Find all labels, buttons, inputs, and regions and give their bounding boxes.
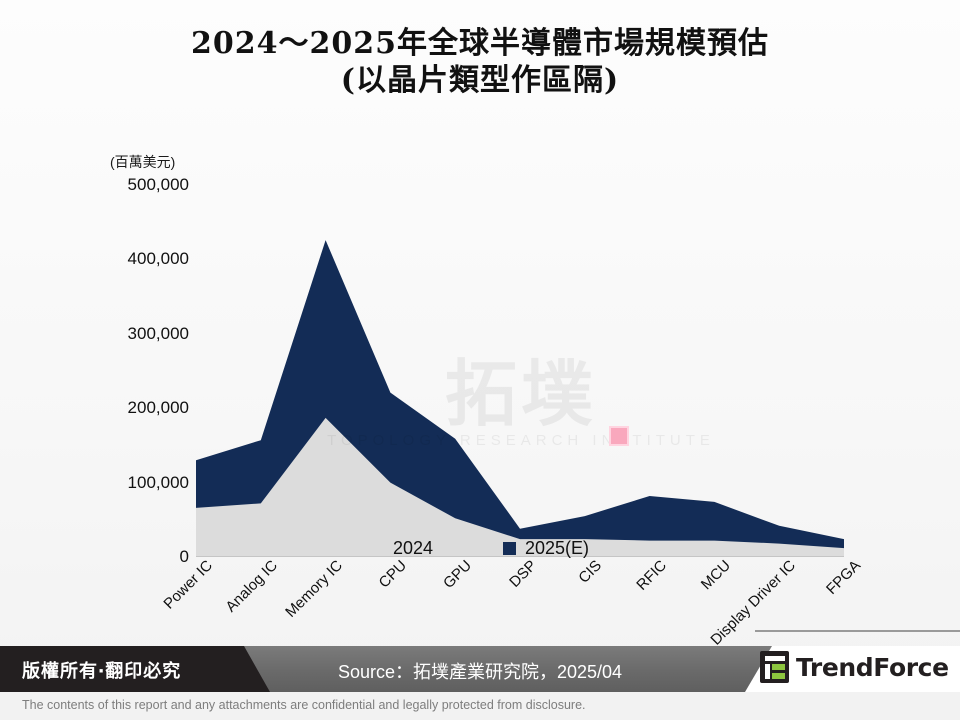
trendforce-mark-icon [760,651,789,683]
y-tick-label: 200,000 [95,398,189,418]
legend-item[interactable]: 2025(E) [503,538,589,559]
y-tick-label: 400,000 [95,249,189,269]
copyright-text: 版權所有‧翻印必究 [22,657,181,683]
x-tick-label-text: GPU [440,557,475,592]
legend-label: 2025(E) [525,538,589,559]
footer-rule [755,630,960,632]
legend-swatch-icon [503,542,516,555]
title-line-2: (以晶片類型作區隔) [0,63,960,100]
slide-canvas: 2024～2025年全球半導體市場規模預估 (以晶片類型作區隔) (百萬美元) … [0,0,960,720]
footer-bar: Source：拓墣產業研究院，2025/04 版權所有‧翻印必究 TrendFo… [0,646,960,692]
chart-legend: 20242025(E) [0,538,960,559]
area-chart-plot [196,185,844,557]
x-tick-label-text: DSP [506,557,540,591]
brand-logo: TrendForce [760,651,949,683]
brand-name: TrendForce [796,653,949,682]
x-tick-label-text: CPU [376,557,410,591]
legend-swatch-icon [371,542,384,555]
slide-footer: Source：拓墣產業研究院，2025/04 版權所有‧翻印必究 TrendFo… [0,628,960,720]
x-tick-label-text: FPGA [823,557,864,598]
x-tick-label-text: CIS [575,557,605,587]
legend-label: 2024 [393,538,433,559]
title-line-1: 2024～2025年全球半導體市場規模預估 [0,26,960,63]
legend-item[interactable]: 2024 [371,538,433,559]
page-title: 2024～2025年全球半導體市場規模預估 (以晶片類型作區隔) [0,26,960,99]
y-axis-tick-labels: 0100,000200,000300,000400,000500,000 [95,120,189,570]
x-tick-label-text: RFIC [633,557,670,594]
y-tick-label: 100,000 [95,473,189,493]
pink-square-marker [609,426,629,446]
x-tick-label-text: MCU [698,557,734,593]
x-tick-label-text: Memory IC [282,557,346,621]
disclaimer-text: The contents of this report and any atta… [22,698,586,712]
y-tick-label: 300,000 [95,324,189,344]
chart-container: (百萬美元) 0100,000200,000300,000400,000500,… [0,120,960,570]
area-chart-svg [196,185,844,557]
x-tick-label-text: Analog IC [222,557,281,616]
y-tick-label: 500,000 [95,175,189,195]
